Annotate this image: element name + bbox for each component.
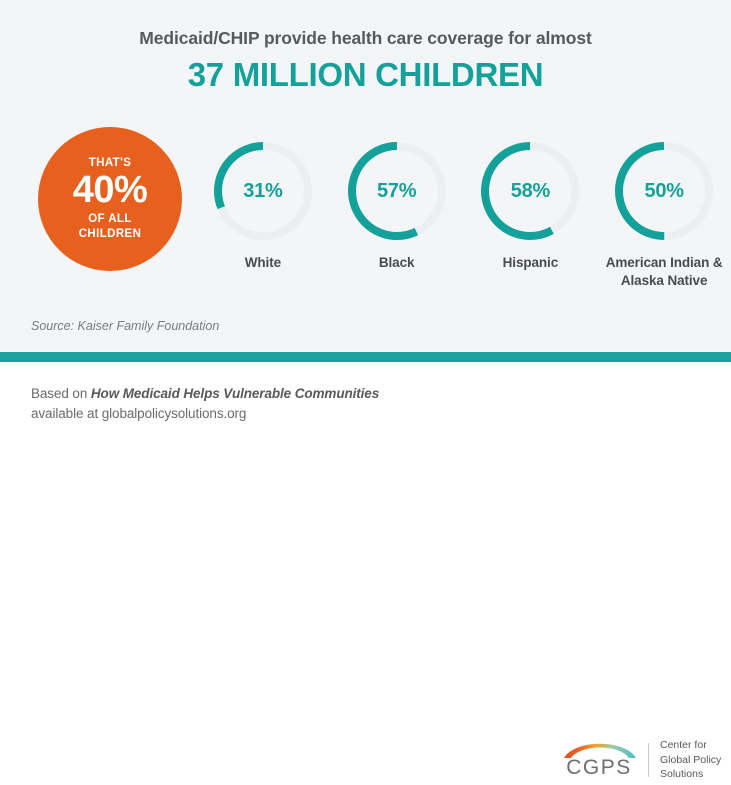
overall-share-circle: THAT'S 40% OF ALL CHILDREN bbox=[38, 127, 182, 271]
cgps-tagline-line3: Solutions bbox=[660, 767, 721, 782]
logo-divider bbox=[648, 743, 649, 777]
overall-prefix-label: THAT'S bbox=[89, 157, 132, 169]
donut-label-hispanic: Hispanic bbox=[503, 254, 558, 272]
donut-chart-group: 31% White 57% Black bbox=[196, 138, 731, 323]
donut-ring-american-indian-alaska-native: 50% bbox=[611, 138, 717, 244]
donut-chart-american-indian-alaska-native: 50% American Indian & Alaska Native bbox=[597, 138, 731, 323]
source-attribution: Source: Kaiser Family Foundation bbox=[31, 319, 219, 333]
footer-reference: Based on How Medicaid Helps Vulnerable C… bbox=[31, 384, 379, 425]
donut-value-white: 31% bbox=[210, 138, 316, 244]
overall-suffix-line1: OF ALL bbox=[88, 212, 132, 226]
cgps-tagline: Center for Global Policy Solutions bbox=[660, 738, 721, 783]
donut-chart-white: 31% White bbox=[196, 138, 330, 323]
donut-chart-black: 57% Black bbox=[330, 138, 464, 323]
donut-chart-hispanic: 58% Hispanic bbox=[464, 138, 598, 323]
footer-report-title: How Medicaid Helps Vulnerable Communitie… bbox=[91, 386, 379, 401]
infographic-root: Medicaid/CHIP provide health care covera… bbox=[0, 0, 731, 435]
cgps-wordmark: CGPS bbox=[553, 756, 645, 780]
donut-ring-black: 57% bbox=[344, 138, 450, 244]
cgps-logo: CGPS Center for Global Policy Solutions bbox=[553, 735, 725, 785]
donut-value-american-indian-alaska-native: 50% bbox=[611, 138, 717, 244]
donut-ring-hispanic: 58% bbox=[477, 138, 583, 244]
donut-label-black: Black bbox=[379, 254, 415, 272]
overall-percent-value: 40% bbox=[73, 171, 148, 209]
footer: Based on How Medicaid Helps Vulnerable C… bbox=[0, 362, 731, 435]
cgps-tagline-line1: Center for bbox=[660, 738, 721, 753]
headline-primary: Medicaid/CHIP provide health care covera… bbox=[0, 28, 731, 49]
section-divider-rule bbox=[0, 352, 731, 362]
footer-based-on-prefix: Based on bbox=[31, 386, 91, 401]
donut-ring-white: 31% bbox=[210, 138, 316, 244]
headline-statistic: 37 MILLION CHILDREN bbox=[0, 56, 731, 94]
donut-label-american-indian-alaska-native: American Indian & Alaska Native bbox=[597, 254, 731, 290]
donut-value-black: 57% bbox=[344, 138, 450, 244]
footer-available-line: available at globalpolicysolutions.org bbox=[31, 406, 246, 421]
main-panel: Medicaid/CHIP provide health care covera… bbox=[0, 0, 731, 352]
cgps-logo-mark: CGPS bbox=[553, 736, 645, 784]
cgps-tagline-line2: Global Policy bbox=[660, 753, 721, 768]
donut-label-white: White bbox=[245, 254, 281, 272]
donut-value-hispanic: 58% bbox=[477, 138, 583, 244]
overall-suffix-line2: CHILDREN bbox=[79, 227, 142, 241]
